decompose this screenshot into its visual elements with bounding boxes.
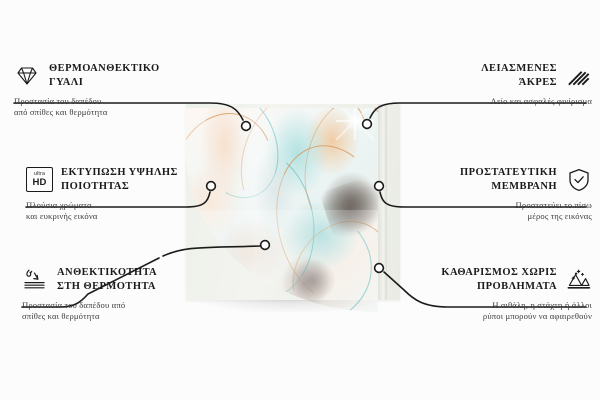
feature-heat-durability: ΑΝΘΕΚΤΙΚΟΤΗΤΑ ΣΤΗ ΘΕΡΜΟΤΗΤΑ Προστασία το…: [22, 266, 217, 323]
feature-heading: ΚΑΘΑΡΙΣΜΟΣ ΧΩΡΙΣ ΠΡΟΒΛΗΜΑΤΑ: [392, 266, 592, 294]
feature-subtitle: Προστασία του δαπέδου από σπίθες και θερ…: [14, 90, 204, 119]
feature-heading: ΘΕΡΜΟΑΝΘΕΚΤΙΚΟ ΓΥΑΛΙ: [14, 62, 204, 90]
beveled-edge-icon: [566, 63, 592, 89]
infographic-stage: ΘΕΡΜΟΑΝΘΕΚΤΙΚΟ ΓΥΑΛΙ Προστασία του δαπέδ…: [0, 0, 600, 400]
feature-title: ΚΑΘΑΡΙΣΜΟΣ ΧΩΡΙΣ ΠΡΟΒΛΗΜΑΤΑ: [441, 266, 557, 294]
feature-protective-membrane: ΠΡΟΣΤΑΤΕΥΤΙΚΗ ΜΕΜΒΡΑΝΗ Προστατεύει το πί…: [402, 166, 592, 223]
feature-title: ΑΝΘΕΚΤΙΚΟΤΗΤΑ ΣΤΗ ΘΕΡΜΟΤΗΤΑ: [57, 266, 157, 294]
feature-heading: ΠΡΟΣΤΑΤΕΥΤΙΚΗ ΜΕΜΒΡΑΝΗ: [402, 166, 592, 194]
flame-surface-icon: [22, 267, 48, 293]
connector-path-durability-2: [163, 246, 261, 256]
connector-endpoint-clean: [375, 264, 384, 273]
hd-label: HD: [32, 178, 46, 188]
feature-subtitle: Λείο και ασφαλές φινίρισμα: [402, 90, 592, 107]
connector-endpoint-durability: [261, 241, 270, 250]
feature-title: ΛΕΙΑΣΜΕΝΕΣ ΆΚΡΕΣ: [481, 62, 557, 90]
feature-subtitle: Προστατεύει το πίσω μέρος της εικόνας: [402, 194, 592, 223]
connector-endpoint-print: [207, 182, 216, 191]
feature-subtitle: Προστασία του δαπέδου από σπίθες και θερ…: [22, 294, 217, 323]
connector-endpoint-membrane: [375, 182, 384, 191]
feature-heading: ΑΝΘΕΚΤΙΚΟΤΗΤΑ ΣΤΗ ΘΕΡΜΟΤΗΤΑ: [22, 266, 217, 294]
connector-endpoint-edges: [363, 120, 372, 129]
diamond-icon: [14, 63, 40, 89]
connector-endpoint-heat: [242, 122, 251, 131]
feature-high-quality-print: ultra HD ΕΚΤΥΠΩΣΗ ΥΨΗΛΗΣ ΠΟΙΟΤΗΤΑΣ Πλούσ…: [26, 166, 206, 223]
feature-title: ΘΕΡΜΟΑΝΘΕΚΤΙΚΟ ΓΥΑΛΙ: [49, 62, 160, 90]
feature-easy-cleaning: ΚΑΘΑΡΙΣΜΟΣ ΧΩΡΙΣ ΠΡΟΒΛΗΜΑΤΑ Η αιθάλη, η …: [392, 266, 592, 323]
sparkle-clean-icon: [566, 267, 592, 293]
feature-heading: ΛΕΙΑΣΜΕΝΕΣ ΆΚΡΕΣ: [402, 62, 592, 90]
shield-check-icon: [566, 167, 592, 193]
feature-subtitle: Πλούσια χρώματα και ευκρινής εικόνα: [26, 194, 206, 223]
feature-title: ΕΚΤΥΠΩΣΗ ΥΨΗΛΗΣ ΠΟΙΟΤΗΤΑΣ: [61, 166, 178, 194]
feature-heat-resistant-glass: ΘΕΡΜΟΑΝΘΕΚΤΙΚΟ ΓΥΑΛΙ Προστασία του δαπέδ…: [14, 62, 204, 119]
feature-title: ΠΡΟΣΤΑΤΕΥΤΙΚΗ ΜΕΜΒΡΑΝΗ: [460, 166, 557, 194]
feature-heading: ultra HD ΕΚΤΥΠΩΣΗ ΥΨΗΛΗΣ ΠΟΙΟΤΗΤΑΣ: [26, 166, 206, 194]
feature-polished-edges: ΛΕΙΑΣΜΕΝΕΣ ΆΚΡΕΣ Λείο και ασφαλές φινίρι…: [402, 62, 592, 107]
ultra-hd-icon: ultra HD: [26, 167, 52, 193]
feature-subtitle: Η αιθάλη, η στάχτη ή άλλοι ρύποι μπορούν…: [392, 294, 592, 323]
